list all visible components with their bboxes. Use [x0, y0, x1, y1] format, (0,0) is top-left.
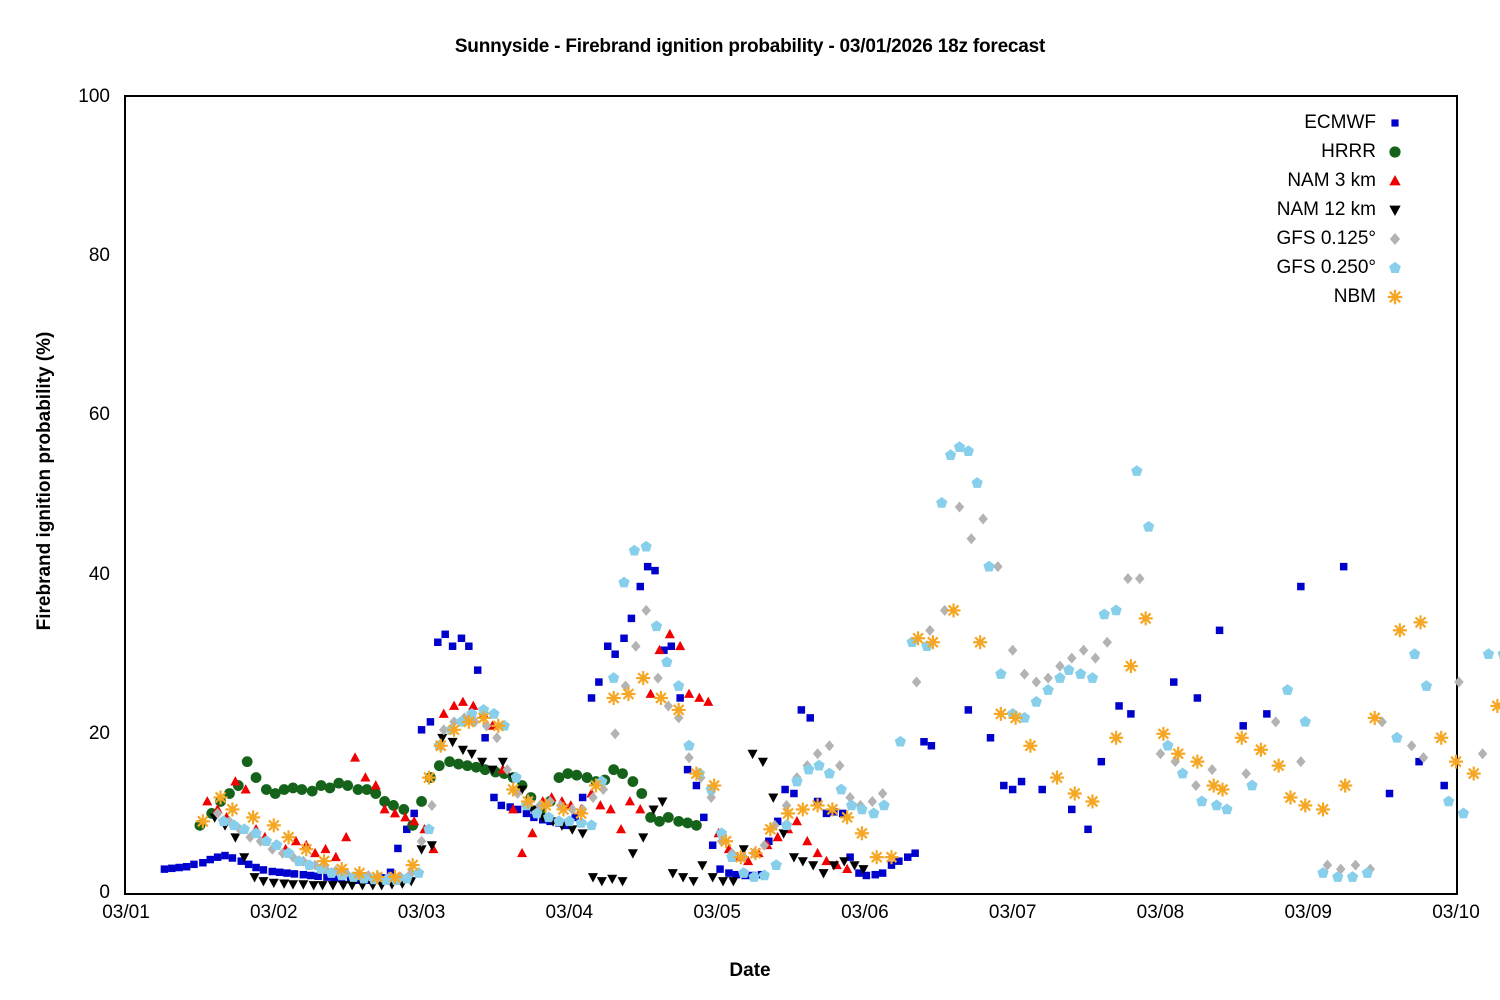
data-point [689, 767, 703, 781]
data-point [868, 796, 878, 807]
data-point [994, 707, 1008, 721]
data-point [370, 870, 384, 884]
data-point [458, 697, 468, 706]
data-point [1449, 755, 1463, 769]
data-point [406, 858, 420, 872]
data-point [225, 802, 239, 816]
series-gfs-0-125 [213, 501, 1500, 882]
data-point [987, 734, 994, 741]
data-point [269, 879, 279, 888]
data-point [700, 814, 707, 821]
data-point [796, 802, 810, 816]
data-point [651, 567, 658, 574]
data-point [434, 760, 445, 771]
data-point [1102, 637, 1112, 648]
y-tick-label: 20 [0, 723, 124, 745]
data-point [1190, 755, 1204, 769]
data-point [1316, 802, 1330, 816]
data-point [288, 880, 298, 889]
data-point [644, 563, 651, 570]
data-point [342, 780, 353, 791]
data-point [388, 800, 399, 811]
data-point [418, 726, 425, 733]
data-point [608, 672, 619, 683]
data-point [1043, 684, 1054, 695]
data-point [352, 866, 366, 880]
data-point [413, 867, 424, 878]
data-point [836, 784, 847, 795]
data-point [276, 869, 283, 876]
data-point [1162, 740, 1173, 751]
data-point [1454, 677, 1464, 688]
data-point [1296, 756, 1306, 767]
data-point [1031, 696, 1042, 707]
data-point [398, 804, 409, 815]
data-point [631, 641, 640, 652]
legend-marker-triangle-up-icon [1384, 170, 1406, 192]
data-point [1393, 623, 1407, 637]
data-point [684, 689, 694, 698]
data-point [331, 852, 341, 861]
data-point [665, 629, 675, 638]
data-point [871, 871, 878, 878]
data-point [945, 449, 956, 460]
y-tick-label: 100 [0, 86, 124, 108]
data-point [1170, 678, 1177, 685]
data-point [895, 736, 906, 747]
data-point [1338, 779, 1352, 793]
data-point [708, 873, 718, 882]
legend-item-nbm[interactable]: NBM [1180, 282, 1410, 311]
data-point [458, 746, 468, 755]
data-point [1347, 871, 1358, 882]
data-point [1020, 669, 1030, 680]
data-point [481, 734, 488, 741]
data-point [618, 577, 629, 588]
data-point [417, 836, 427, 847]
data-point [190, 861, 197, 868]
data-point [1131, 465, 1142, 476]
data-point [260, 866, 267, 873]
data-point [468, 701, 478, 710]
data-point [1063, 664, 1074, 675]
data-point [718, 877, 728, 886]
data-point [672, 703, 686, 717]
legend-item-hrrr[interactable]: HRRR [1180, 137, 1410, 166]
data-point [588, 873, 598, 882]
data-point [625, 796, 635, 805]
data-point [1054, 672, 1065, 683]
data-point [206, 856, 213, 863]
data-point [252, 864, 259, 871]
data-point [610, 728, 620, 739]
data-point [808, 861, 818, 870]
data-point [434, 739, 448, 753]
data-point [1171, 747, 1185, 761]
y-tick-label: 0 [0, 882, 124, 904]
data-point [202, 796, 212, 805]
data-point [1254, 743, 1268, 757]
data-point [282, 830, 296, 844]
data-point [521, 794, 535, 808]
data-point [675, 641, 685, 650]
data-point [1263, 710, 1270, 717]
data-point [654, 691, 668, 705]
data-point [825, 802, 839, 816]
data-point [912, 677, 922, 688]
data-point [620, 635, 627, 642]
data-point [1099, 608, 1110, 619]
data-point [850, 861, 860, 870]
data-point [161, 865, 168, 872]
data-point [299, 842, 313, 856]
data-point [307, 872, 314, 879]
data-point [1139, 611, 1153, 625]
data-point [636, 671, 650, 685]
data-point [678, 873, 688, 882]
data-point [607, 691, 621, 705]
data-point [1084, 826, 1091, 833]
data-point [781, 806, 795, 820]
data-point [579, 794, 586, 801]
y-tick-label: 40 [0, 564, 124, 586]
chart-title: Sunnyside - Firebrand ignition probabili… [0, 36, 1500, 58]
data-point [637, 583, 644, 590]
data-point [490, 794, 497, 801]
data-point [684, 766, 691, 773]
data-point [317, 854, 331, 868]
data-point [925, 625, 935, 636]
data-point [683, 740, 694, 751]
data-point [911, 849, 918, 856]
data-point [506, 783, 520, 797]
series-nbm [196, 603, 1500, 884]
data-point [269, 868, 276, 875]
data-point [517, 848, 527, 857]
data-point [641, 605, 651, 616]
data-point [1068, 806, 1075, 813]
data-point [1414, 615, 1428, 629]
data-point [911, 631, 925, 645]
data-point [250, 873, 260, 882]
data-point [229, 854, 236, 861]
data-point [646, 689, 656, 698]
data-point [498, 802, 505, 809]
data-point [1272, 759, 1286, 773]
data-point [691, 820, 702, 831]
data-point [835, 760, 845, 771]
data-point [371, 780, 381, 789]
data-point [748, 750, 758, 759]
data-point [1023, 739, 1037, 753]
data-point [607, 875, 617, 884]
data-point [1156, 727, 1170, 741]
data-point [617, 768, 628, 779]
data-point [1124, 659, 1138, 673]
data-point [617, 877, 627, 886]
data-point [1443, 796, 1454, 807]
data-point [668, 869, 678, 878]
data-point [1191, 780, 1201, 791]
data-point [427, 718, 434, 725]
data-point [1391, 732, 1402, 743]
data-point [868, 807, 879, 818]
data-point [840, 810, 854, 824]
data-point [1282, 684, 1293, 695]
data-point [1018, 778, 1025, 785]
data-point [688, 877, 698, 886]
data-point [628, 615, 635, 622]
data-point [703, 697, 713, 706]
data-point [574, 806, 588, 820]
legend-item-gfs-0-250[interactable]: GFS 0.250° [1180, 253, 1410, 282]
data-point [338, 881, 348, 890]
data-point [175, 864, 182, 871]
legend-marker-diamond-icon [1384, 228, 1406, 250]
data-point [242, 756, 253, 767]
x-tick-label: 03/06 [841, 902, 889, 924]
data-point [604, 642, 611, 649]
data-point [467, 750, 477, 759]
data-point [1085, 794, 1099, 808]
data-point [1409, 648, 1420, 659]
data-point [1194, 694, 1201, 701]
x-tick-label: 03/04 [546, 902, 594, 924]
data-point [611, 650, 618, 657]
data-point [291, 870, 298, 877]
data-point [1055, 661, 1065, 672]
data-point [1246, 780, 1257, 791]
data-point [578, 829, 588, 838]
data-point [661, 656, 672, 667]
data-point [1143, 521, 1154, 532]
data-point [629, 545, 640, 556]
data-point [768, 794, 778, 803]
data-point [1241, 768, 1251, 779]
data-point [199, 859, 206, 866]
series-ecmwf [161, 563, 1448, 884]
data-point [595, 800, 605, 809]
data-point [245, 861, 252, 868]
data-point [1000, 782, 1007, 789]
data-point [328, 881, 338, 890]
data-point [1123, 573, 1133, 584]
data-point [1490, 699, 1500, 713]
data-point [214, 853, 221, 860]
data-point [1211, 800, 1222, 811]
data-point [636, 788, 647, 799]
data-point [657, 798, 667, 807]
data-point [449, 642, 456, 649]
legend-item-nam-3-km[interactable]: NAM 3 km [1180, 166, 1410, 195]
x-tick-label: 03/01 [102, 902, 150, 924]
legend-item-gfs-0-125[interactable]: GFS 0.125° [1180, 224, 1410, 253]
data-point [1109, 731, 1123, 745]
data-point [388, 870, 402, 884]
data-point [347, 881, 357, 890]
data-point [1079, 645, 1089, 656]
data-point [995, 668, 1006, 679]
data-point [707, 779, 721, 793]
data-point [221, 852, 228, 859]
data-point [597, 877, 607, 886]
legend-item-nam-12-km[interactable]: NAM 12 km [1180, 195, 1410, 224]
series-gfs-0-250 [218, 441, 1500, 885]
data-point [168, 865, 175, 872]
data-point [973, 635, 987, 649]
data-point [1235, 731, 1249, 745]
data-point [250, 827, 261, 838]
chart-legend: ECMWFHRRRNAM 3 kmNAM 12 kmGFS 0.125°GFS … [1180, 108, 1410, 311]
data-point [1421, 680, 1432, 691]
data-point [1340, 563, 1347, 570]
data-point [1009, 786, 1016, 793]
legend-item-ecmwf[interactable]: ECMWF [1180, 108, 1410, 137]
data-point [1467, 767, 1481, 781]
data-point [1271, 716, 1281, 727]
data-point [1008, 645, 1018, 656]
data-point [527, 828, 537, 837]
legend-marker-triangle-down-icon [1384, 199, 1406, 221]
data-point [811, 798, 825, 812]
legend-marker-pentagon-icon [1384, 257, 1406, 279]
data-point [781, 786, 788, 793]
data-point [1068, 786, 1082, 800]
data-point [1110, 604, 1121, 615]
data-point [589, 779, 603, 793]
data-point [449, 701, 459, 710]
data-point [320, 844, 330, 853]
data-point [638, 833, 648, 842]
data-point [465, 642, 472, 649]
data-point [267, 818, 281, 832]
data-point [491, 719, 505, 733]
data-point [983, 561, 994, 572]
data-point [967, 533, 977, 544]
data-point [846, 800, 857, 811]
data-point [920, 738, 927, 745]
data-point [271, 839, 282, 850]
legend-marker-star-icon [1384, 286, 1406, 308]
data-point [1038, 786, 1045, 793]
data-point [878, 800, 889, 811]
data-point [1196, 796, 1207, 807]
data-point [492, 732, 502, 743]
data-point [878, 788, 888, 799]
data-point [734, 850, 748, 864]
data-point [1478, 748, 1488, 759]
data-point [309, 881, 319, 890]
data-point [697, 861, 707, 870]
data-point [553, 815, 564, 826]
data-point [462, 715, 476, 729]
data-point [1098, 758, 1105, 765]
data-point [1458, 807, 1469, 818]
data-point [298, 880, 308, 889]
x-axis-label: Date [0, 960, 1500, 982]
chart-root: Sunnyside - Firebrand ignition probabili… [0, 0, 1500, 1000]
data-point [904, 853, 911, 860]
data-point [335, 862, 349, 876]
data-point [738, 867, 749, 878]
data-point [926, 635, 940, 649]
data-point [821, 856, 831, 865]
y-tick-label: 60 [0, 404, 124, 426]
data-point [965, 706, 972, 713]
data-point [556, 802, 570, 816]
data-point [947, 603, 961, 617]
data-point [1043, 673, 1053, 684]
data-point [1297, 583, 1304, 590]
data-point [641, 541, 652, 552]
data-point [870, 850, 884, 864]
data-point [781, 819, 792, 830]
data-point [1300, 716, 1311, 727]
legend-marker-circle-icon [1384, 141, 1406, 163]
data-point [668, 642, 675, 649]
data-point [230, 833, 240, 842]
data-point [318, 881, 328, 890]
data-point [928, 742, 935, 749]
data-point [725, 869, 732, 876]
data-point [571, 770, 582, 781]
data-point [1434, 731, 1448, 745]
data-point [258, 877, 268, 886]
data-point [1221, 803, 1232, 814]
data-point [635, 804, 645, 813]
data-point [416, 796, 427, 807]
data-point [458, 635, 465, 642]
x-tick-label: 03/09 [1284, 902, 1332, 924]
data-point [621, 687, 635, 701]
data-point [628, 849, 638, 858]
data-point [758, 758, 768, 767]
data-point [694, 693, 704, 702]
data-point [616, 824, 626, 833]
data-point [1298, 798, 1312, 812]
data-point [246, 810, 260, 824]
data-point [1440, 782, 1447, 789]
data-point [251, 772, 262, 783]
data-point [279, 880, 289, 889]
x-tick-label: 03/10 [1432, 902, 1480, 924]
data-point [474, 666, 481, 673]
data-point [1207, 764, 1217, 775]
data-point [627, 776, 638, 787]
data-point [183, 863, 190, 870]
data-point [663, 812, 674, 823]
data-point [447, 723, 461, 737]
series-hrrr [194, 756, 701, 830]
data-point [567, 825, 577, 834]
data-point [879, 869, 886, 876]
data-point [1283, 790, 1297, 804]
data-point [798, 857, 808, 866]
data-point [1215, 783, 1229, 797]
data-point [606, 804, 616, 813]
data-point [360, 772, 370, 781]
data-point [300, 871, 307, 878]
data-point [798, 706, 805, 713]
data-point [394, 845, 401, 852]
data-point [684, 752, 694, 763]
data-point [763, 822, 777, 836]
data-point [214, 790, 228, 804]
data-point [588, 694, 595, 701]
y-tick-label: 80 [0, 245, 124, 267]
data-point [709, 841, 716, 848]
data-point [595, 678, 602, 685]
